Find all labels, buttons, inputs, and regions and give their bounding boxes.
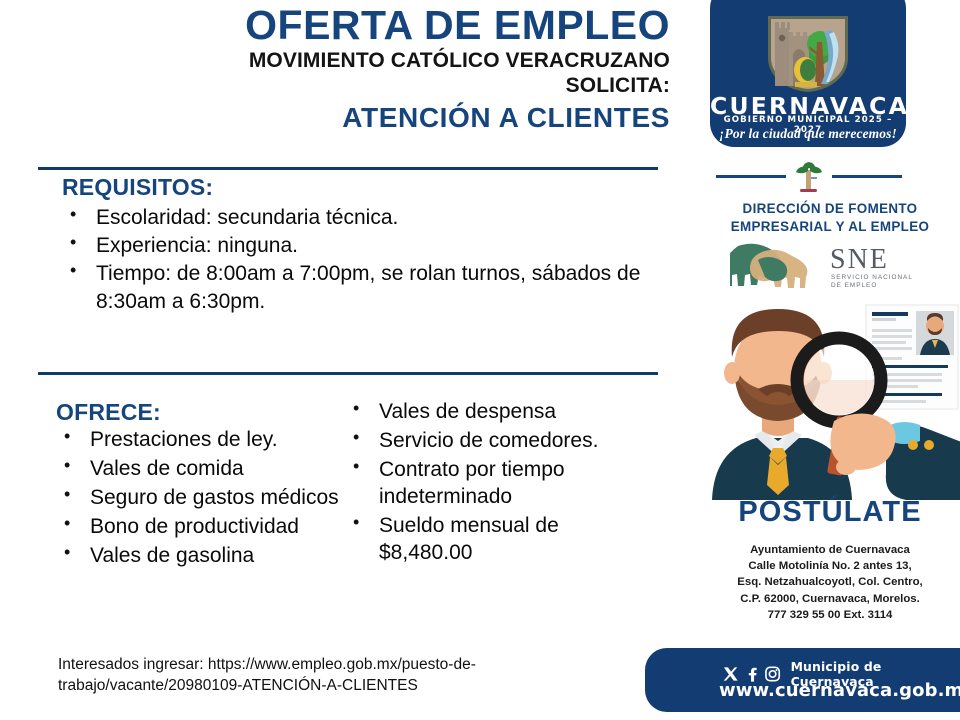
list-item: Experiencia: ninguna. xyxy=(62,232,672,259)
job-offer-poster: OFERTA DE EMPLEO MOVIMIENTO CATÓLICO VER… xyxy=(0,0,960,720)
requirements-heading: REQUISITOS: xyxy=(62,173,672,202)
address-block: Ayuntamiento de Cuernavaca Calle Motolin… xyxy=(700,542,960,623)
list-item: Servicio de comedores. xyxy=(345,427,655,454)
social-footer-bar: Municipio de Cuernavaca www.cuernavaca.g… xyxy=(645,648,960,712)
cuernavaca-logo-card: CUERNAVACA GOBIERNO MUNICIPAL 2025 – 202… xyxy=(710,0,906,147)
main-content-column: OFERTA DE EMPLEO MOVIMIENTO CATÓLICO VER… xyxy=(0,0,700,720)
offers-column-right: Vales de despensa Servicio de comedores.… xyxy=(345,396,655,568)
application-link-note[interactable]: Interesados ingresar: https://www.empleo… xyxy=(58,655,658,696)
list-item: Escolaridad: secundaria técnica. xyxy=(62,204,672,231)
department-line-1: DIRECCIÓN DE FOMENTO xyxy=(700,201,960,216)
offers-column-left: Prestaciones de ley. Vales de comida Seg… xyxy=(56,424,356,571)
phone-number: 777 329 55 00 Ext. 3114 xyxy=(700,607,960,623)
department-line-2: EMPRESARIAL Y AL EMPLEO xyxy=(700,219,960,234)
address-line-1: Ayuntamiento de Cuernavaca xyxy=(700,542,960,558)
headline-block: OFERTA DE EMPLEO MOVIMIENTO CATÓLICO VER… xyxy=(30,4,670,134)
cuernavaca-shield-icon xyxy=(765,14,851,94)
list-item: Vales de comida xyxy=(56,455,356,482)
page-title: OFERTA DE EMPLEO xyxy=(30,4,670,47)
list-item: Vales de gasolina xyxy=(56,542,356,569)
list-item: Tiempo: de 8:00am a 7:00pm, se rolan tur… xyxy=(62,260,672,315)
divider-middle xyxy=(38,372,658,375)
organization-name: MOVIMIENTO CATÓLICO VERACRUZANO xyxy=(30,49,670,74)
list-item: Seguro de gastos médicos xyxy=(56,484,356,511)
address-line-3: Esq. Netzahualcoyotl, Col. Centro, xyxy=(700,574,960,590)
svg-text:SERVICIO NACIONAL: SERVICIO NACIONAL xyxy=(831,274,913,281)
tree-divider-icon xyxy=(716,160,902,194)
brand-slogan: ¡Por la ciudad que merecemos! xyxy=(710,126,906,142)
svg-text:SNE: SNE xyxy=(830,244,889,275)
requirements-section: REQUISITOS: Escolaridad: secundaria técn… xyxy=(62,173,672,316)
offers-list-left: Prestaciones de ley. Vales de comida Seg… xyxy=(56,426,356,569)
address-line-4: C.P. 62000, Cuernavaca, Morelos. xyxy=(700,591,960,607)
job-role-title: ATENCIÓN A CLIENTES xyxy=(30,101,670,134)
list-item: Vales de despensa xyxy=(345,398,655,425)
website-url[interactable]: www.cuernavaca.gob.mx xyxy=(719,680,960,701)
postulate-heading: POSTÚLATE xyxy=(700,496,960,529)
list-item: Contrato por tiempo indeterminado xyxy=(345,456,655,510)
sne-logo-icon: SNE SERVICIO NACIONAL DE EMPLEO xyxy=(730,238,930,290)
address-line-2: Calle Motolinía No. 2 antes 13, xyxy=(700,558,960,574)
list-item: Bono de productividad xyxy=(56,513,356,540)
offers-list-right: Vales de despensa Servicio de comedores.… xyxy=(345,398,655,566)
list-item: Prestaciones de ley. xyxy=(56,426,356,453)
requirements-list: Escolaridad: secundaria técnica. Experie… xyxy=(62,204,672,315)
solicita-label: SOLICITA: xyxy=(30,74,670,99)
offers-heading: OFRECE: xyxy=(56,398,161,427)
divider-top xyxy=(38,167,658,170)
job-seeker-illustration xyxy=(694,285,960,500)
list-item: Sueldo mensual de $8,480.00 xyxy=(345,512,655,566)
right-panel: CUERNAVACA GOBIERNO MUNICIPAL 2025 – 202… xyxy=(700,0,960,720)
